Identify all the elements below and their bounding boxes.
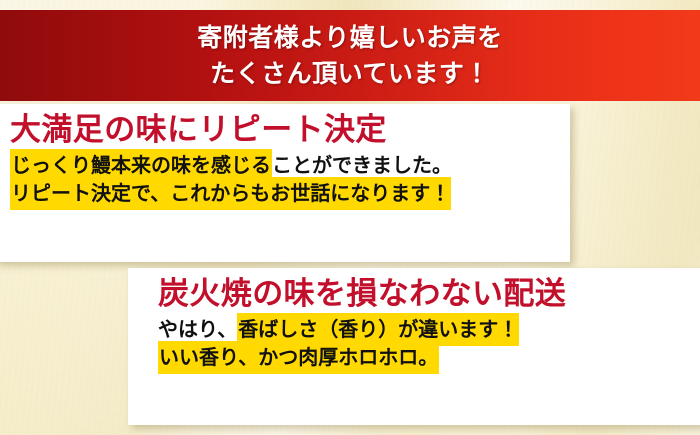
- header-line-2: たくさん頂いています！: [210, 56, 490, 92]
- testimonial-body-2: やはり、香ばしさ（香り）が違います！ いい香り、かつ肉厚ホロホロ。: [146, 319, 700, 367]
- testimonial-banner: 寄附者様より嬉しいお声を たくさん頂いています！ 大満足の味にリピート決定 じっ…: [0, 0, 700, 435]
- testimonial-title-2: 炭火焼の味を損なわない配送: [158, 274, 700, 315]
- testimonial-line: やはり、香ばしさ（香り）が違います！: [158, 319, 700, 339]
- header-banner: 寄附者様より嬉しいお声を たくさん頂いています！: [0, 10, 700, 101]
- testimonial-line: じっくり鰻本来の味を感じることができました。: [10, 155, 570, 175]
- testimonial-card-2: 炭火焼の味を損なわない配送 やはり、香ばしさ（香り）が違います！ いい香り、かつ…: [128, 268, 700, 425]
- testimonial-line: リピート決定で、これからもお世話になります！: [10, 183, 570, 203]
- testimonial-line: いい香り、かつ肉厚ホロホロ。: [158, 347, 700, 367]
- testimonial-title-1: 大満足の味にリピート決定: [10, 110, 570, 151]
- highlighted-text: リピート決定で、これからもお世話になります！: [10, 177, 451, 210]
- testimonial-card-1: 大満足の味にリピート決定 じっくり鰻本来の味を感じることができました。 リピート…: [0, 104, 570, 262]
- highlighted-text: いい香り、かつ肉厚ホロホロ。: [158, 341, 439, 374]
- header-line-1: 寄附者様より嬉しいお声を: [197, 20, 503, 56]
- testimonial-body-1: じっくり鰻本来の味を感じることができました。 リピート決定で、これからもお世話に…: [10, 155, 570, 203]
